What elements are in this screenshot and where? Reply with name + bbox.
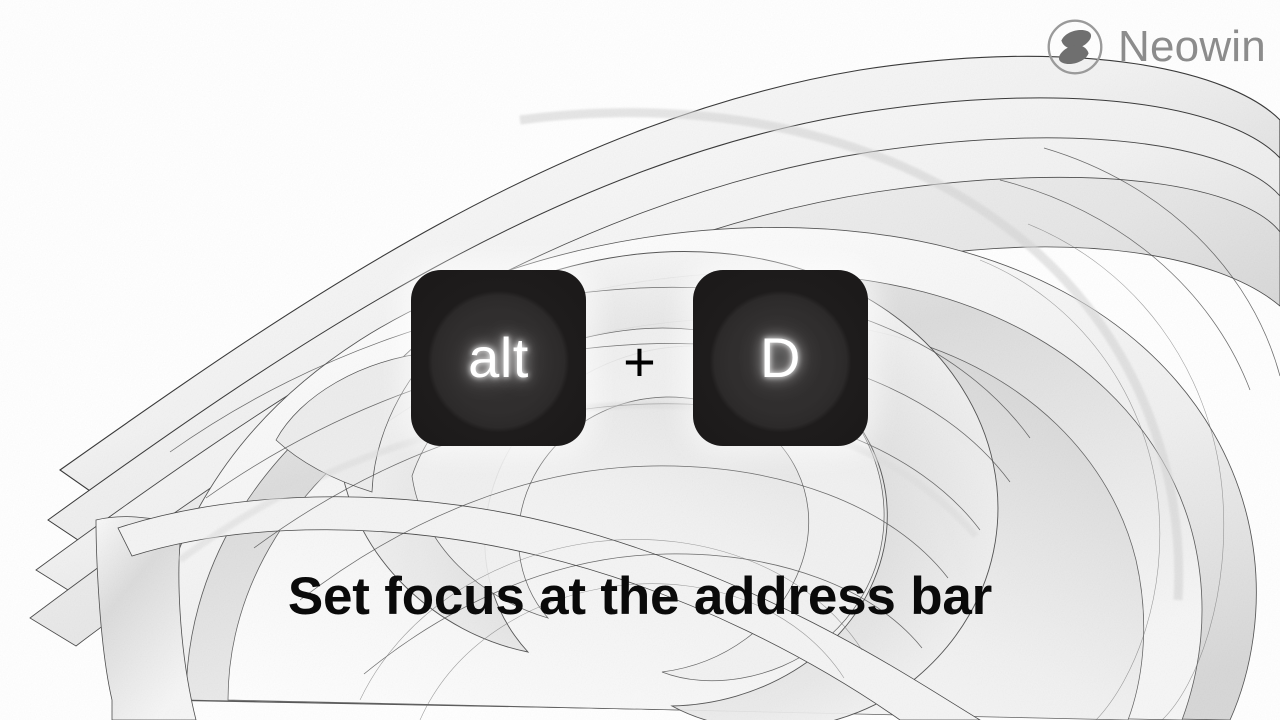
keycap-alt-label: alt — [468, 330, 529, 386]
keyboard-shortcut: alt + D — [411, 270, 868, 446]
caption-text: Set focus at the address bar — [0, 568, 1280, 626]
keycap-d-label: D — [760, 330, 801, 386]
keycap-alt[interactable]: alt — [411, 270, 586, 446]
wallpaper-stage: Neowin alt + D Set focus at the address … — [0, 0, 1280, 720]
keycap-d[interactable]: D — [693, 270, 868, 446]
plus-icon: + — [623, 334, 656, 390]
neowin-brand: Neowin — [1046, 18, 1266, 76]
neowin-ball-icon — [1046, 18, 1104, 76]
shortcut-separator-wrap: + — [586, 270, 693, 446]
brand-wordmark: Neowin — [1118, 25, 1266, 69]
